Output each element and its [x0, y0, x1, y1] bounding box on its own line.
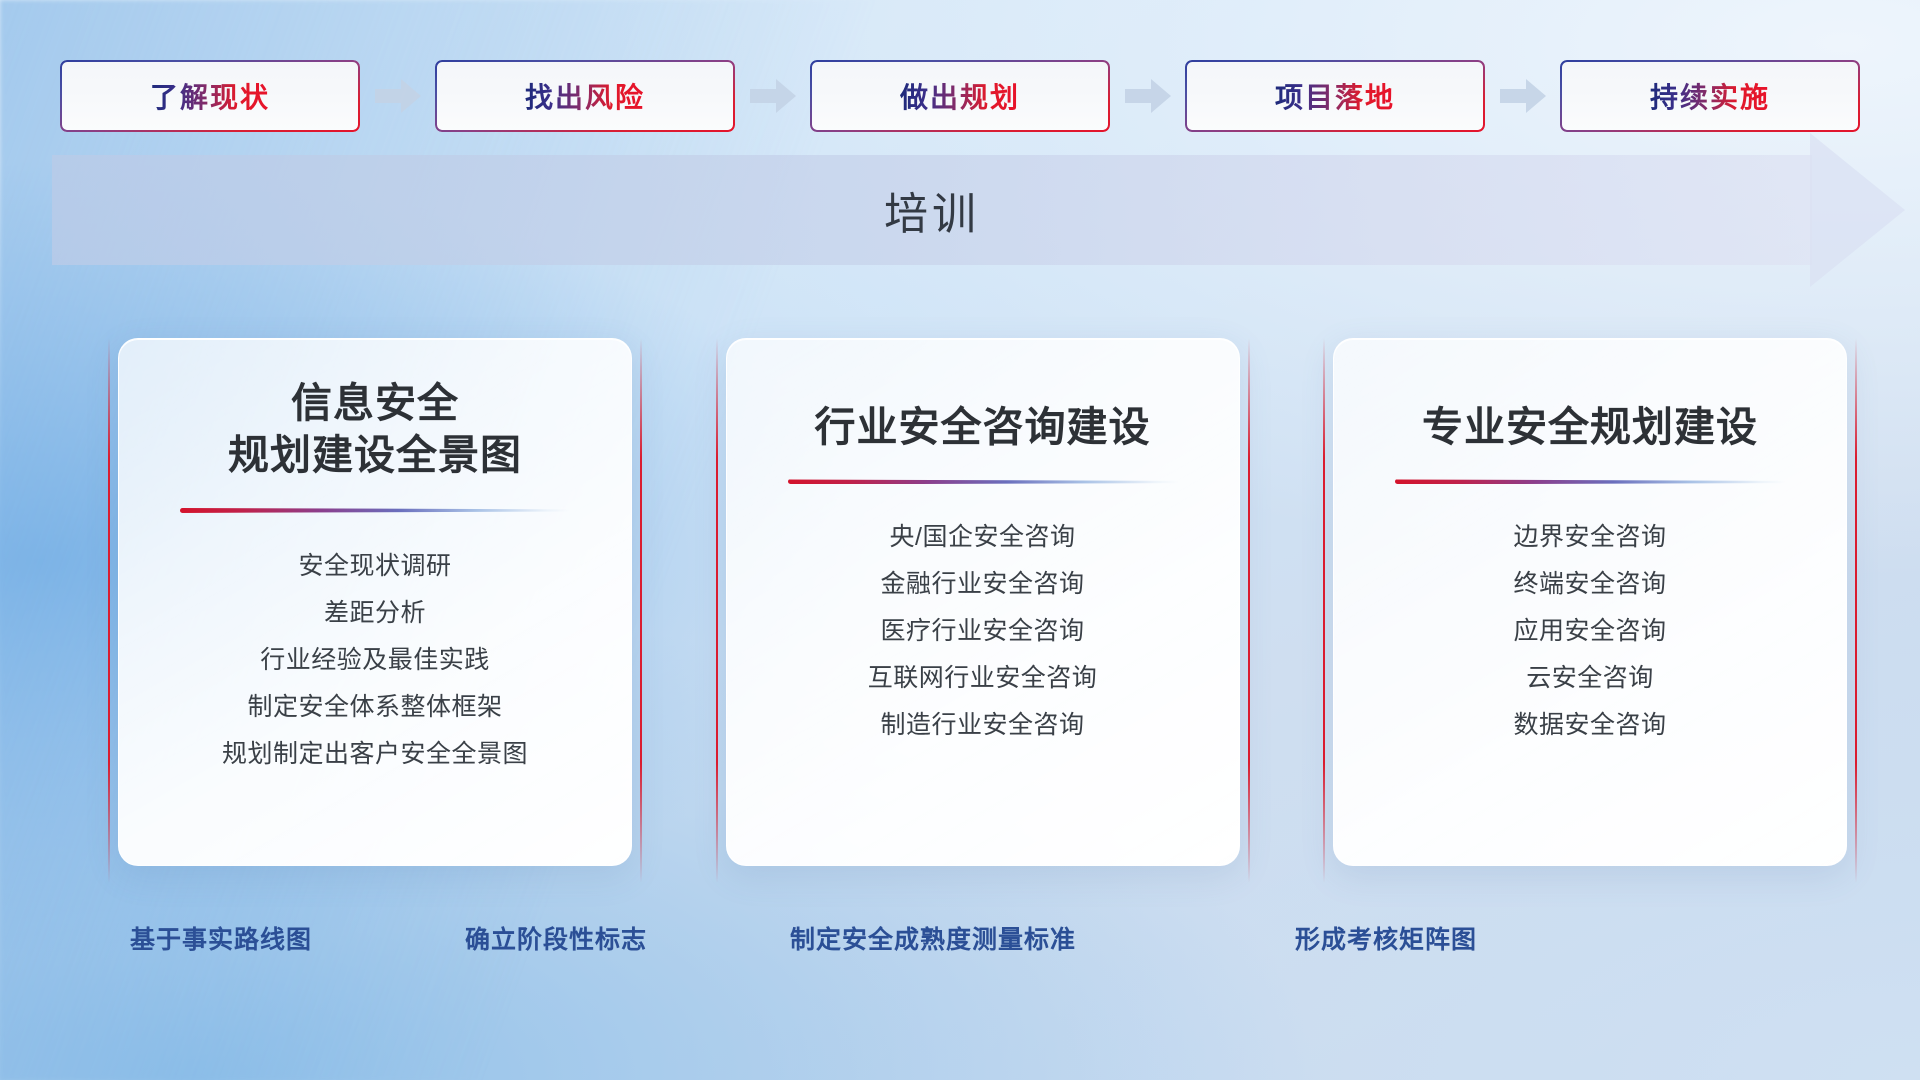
service-card-item[interactable]: 互联网行业安全咨询 [727, 655, 1239, 702]
service-card-wrapper-2: 行业安全咨询建设央/国企安全咨询金融行业安全咨询医疗行业安全咨询互联网行业安全咨… [718, 338, 1248, 883]
arrow-right-icon [1500, 79, 1546, 113]
card-accent-rule-right [640, 338, 642, 883]
process-step-arrow [1110, 60, 1185, 132]
process-step-row: 了解现状找出风险做出规划项目落地持续实施 [60, 60, 1860, 132]
service-card-3[interactable]: 专业安全规划建设边界安全咨询终端安全咨询应用安全咨询云安全咨询数据安全咨询 [1333, 338, 1847, 866]
service-card-item-list: 安全现状调研差距分析行业经验及最佳实践制定安全体系整体框架规划制定出客户安全全景… [119, 543, 631, 778]
service-card-item-list: 边界安全咨询终端安全咨询应用安全咨询云安全咨询数据安全咨询 [1334, 514, 1846, 749]
process-step-label: 持续实施 [1650, 76, 1770, 116]
service-card-item[interactable]: 制造行业安全咨询 [727, 702, 1239, 749]
card-gradient-divider [788, 479, 1178, 484]
process-step-arrow [360, 60, 435, 132]
service-card-item[interactable]: 数据安全咨询 [1334, 702, 1846, 749]
banner-arrow-tip-icon [1810, 133, 1905, 287]
service-card-wrapper-3: 专业安全规划建设边界安全咨询终端安全咨询应用安全咨询云安全咨询数据安全咨询 [1325, 338, 1855, 883]
service-card-title: 专业安全规划建设 [1334, 401, 1846, 453]
service-card-item[interactable]: 央/国企安全咨询 [727, 514, 1239, 561]
service-card-item[interactable]: 制定安全体系整体框架 [119, 684, 631, 731]
process-step-label: 项目落地 [1275, 76, 1395, 116]
process-step-label: 找出风险 [525, 76, 645, 116]
service-card-1[interactable]: 信息安全 规划建设全景图安全现状调研差距分析行业经验及最佳实践制定安全体系整体框… [118, 338, 632, 866]
service-card-item[interactable]: 差距分析 [119, 590, 631, 637]
card-accent-rule-left [716, 338, 718, 883]
card-gradient-divider [180, 508, 570, 513]
service-card-item[interactable]: 规划制定出客户安全全景图 [119, 731, 631, 778]
arrow-right-icon [375, 79, 421, 113]
caption-label-3: 制定安全成熟度测量标准 [790, 920, 1076, 956]
process-step-5[interactable]: 持续实施 [1560, 60, 1860, 132]
slide-canvas: 了解现状找出风险做出规划项目落地持续实施 培训 信息安全 规划建设全景图安全现状… [0, 0, 1920, 1080]
caption-label-1: 基于事实路线图 [130, 920, 312, 956]
card-accent-rule-right [1855, 338, 1857, 883]
service-card-item-list: 央/国企安全咨询金融行业安全咨询医疗行业安全咨询互联网行业安全咨询制造行业安全咨… [727, 514, 1239, 749]
service-card-2[interactable]: 行业安全咨询建设央/国企安全咨询金融行业安全咨询医疗行业安全咨询互联网行业安全咨… [726, 338, 1240, 866]
process-step-1[interactable]: 了解现状 [60, 60, 360, 132]
card-gradient-divider [1395, 479, 1785, 484]
service-card-item[interactable]: 终端安全咨询 [1334, 561, 1846, 608]
training-banner: 培训 [52, 155, 1867, 265]
service-card-item[interactable]: 金融行业安全咨询 [727, 561, 1239, 608]
service-card-item[interactable]: 边界安全咨询 [1334, 514, 1846, 561]
service-card-wrapper-1: 信息安全 规划建设全景图安全现状调研差距分析行业经验及最佳实践制定安全体系整体框… [110, 338, 640, 883]
service-card-item[interactable]: 医疗行业安全咨询 [727, 608, 1239, 655]
service-card-item[interactable]: 安全现状调研 [119, 543, 631, 590]
card-accent-rule-left [1323, 338, 1325, 883]
service-card-item[interactable]: 云安全咨询 [1334, 655, 1846, 702]
service-card-item[interactable]: 行业经验及最佳实践 [119, 637, 631, 684]
card-accent-rule-left [108, 338, 110, 883]
caption-label-2: 确立阶段性标志 [465, 920, 647, 956]
arrow-right-icon [750, 79, 796, 113]
service-card-title: 行业安全咨询建设 [727, 401, 1239, 453]
arrow-right-icon [1125, 79, 1171, 113]
service-card-row: 信息安全 规划建设全景图安全现状调研差距分析行业经验及最佳实践制定安全体系整体框… [110, 338, 1855, 883]
process-step-2[interactable]: 找出风险 [435, 60, 735, 132]
process-step-arrow [735, 60, 810, 132]
process-step-label: 做出规划 [900, 76, 1020, 116]
process-step-4[interactable]: 项目落地 [1185, 60, 1485, 132]
caption-row: 基于事实路线图确立阶段性标志制定安全成熟度测量标准形成考核矩阵图 [0, 920, 1920, 962]
process-step-arrow [1485, 60, 1560, 132]
card-accent-rule-right [1248, 338, 1250, 883]
process-step-3[interactable]: 做出规划 [810, 60, 1110, 132]
service-card-title: 信息安全 规划建设全景图 [119, 377, 631, 482]
service-card-item[interactable]: 应用安全咨询 [1334, 608, 1846, 655]
banner-title: 培训 [52, 155, 1812, 265]
caption-label-4: 形成考核矩阵图 [1295, 920, 1477, 956]
process-step-label: 了解现状 [150, 76, 270, 116]
